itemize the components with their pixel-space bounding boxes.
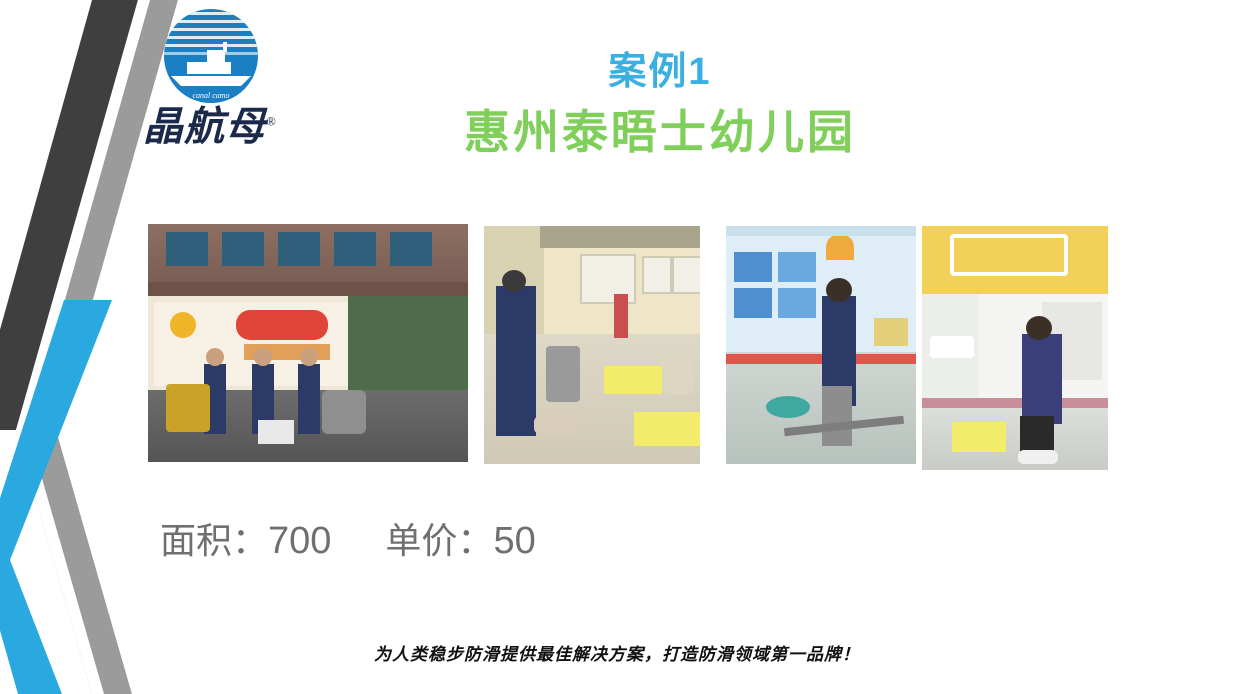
ship-badge-icon: canal camo xyxy=(161,6,261,106)
photo-activity-room xyxy=(726,226,916,464)
brand-logo: canal camo 晶航母® xyxy=(143,6,313,166)
photo-kindergarten-entrance xyxy=(148,224,468,462)
case-title: 案例1 xyxy=(340,40,980,95)
brand-name-text: 晶航母 xyxy=(143,104,266,149)
project-stats: 面积：700单价：50 xyxy=(160,512,536,564)
area-label: 面积： xyxy=(160,521,268,561)
registered-mark: ® xyxy=(266,114,277,129)
photo-washroom xyxy=(922,226,1108,470)
photo-indoor-corridor xyxy=(484,226,700,464)
slide-canvas: canal camo 晶航母® 案例1 惠州泰晤士幼儿园 xyxy=(0,0,1234,694)
price-value: 50 xyxy=(493,520,535,562)
brand-name: 晶航母® xyxy=(143,94,313,152)
footer-slogan: 为人类稳步防滑提供最佳解决方案，打造防滑领域第一品牌！ xyxy=(0,640,1234,665)
photo-strip xyxy=(148,224,1108,472)
area-value: 700 xyxy=(268,520,331,562)
price-label: 单价： xyxy=(385,521,493,561)
site-title: 惠州泰晤士幼儿园 xyxy=(300,96,1020,162)
